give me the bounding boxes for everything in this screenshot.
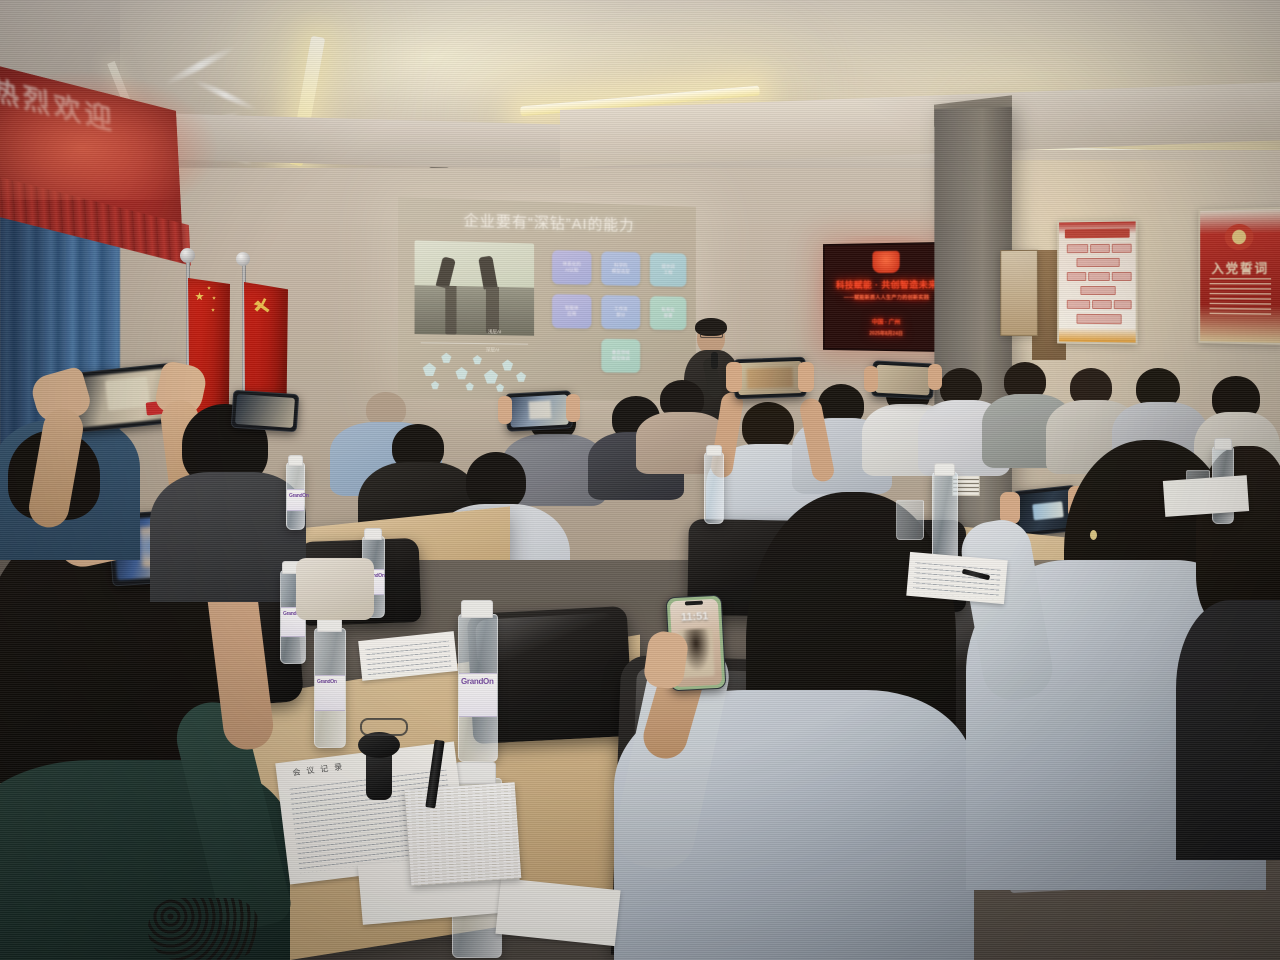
bottle-cap xyxy=(364,528,382,540)
hand xyxy=(498,396,512,424)
bottle-cap xyxy=(934,463,955,476)
phone-screen-content xyxy=(1032,501,1064,520)
phone-center-upper[interactable] xyxy=(505,390,573,431)
hammer-sickle-icon xyxy=(1225,224,1254,250)
water-bottle[interactable] xyxy=(704,452,724,524)
phone-screen-content xyxy=(747,367,794,389)
notepad-lines xyxy=(912,562,1001,600)
slide-card-7: 垂直领域 模型微调 xyxy=(601,339,640,373)
bottle-cap xyxy=(1214,438,1232,450)
slide-card-5: 工作流 部分 xyxy=(601,295,640,329)
bottle-cap xyxy=(461,600,493,618)
hand xyxy=(566,394,580,422)
paper-sheet[interactable] xyxy=(1163,475,1249,517)
led-display-sign: 科技赋能 · 共创智造未来 ——赋能新质人人生产力的创新实践 中国 · 广州 2… xyxy=(823,242,952,352)
led-line-1: 科技赋能 · 共创智造未来 xyxy=(825,278,950,292)
hand xyxy=(798,362,814,392)
water-bottle[interactable] xyxy=(932,472,958,562)
water-bottle[interactable]: GrandOn xyxy=(458,614,498,762)
bottle-cap xyxy=(456,762,496,784)
hand xyxy=(928,364,942,390)
attendee-torso xyxy=(1176,600,1280,860)
slide-card-4: 智能体 应用 xyxy=(552,294,591,329)
slide-illustration xyxy=(415,240,535,335)
phone-raised-right[interactable] xyxy=(733,357,806,399)
conference-room-photo: 热烈欢迎 企业要有“深钻”AI的能力 浅层AI 深层AI xyxy=(0,0,1280,960)
lace-cuff xyxy=(148,898,260,960)
bottle-cap xyxy=(706,445,722,456)
slide-divider xyxy=(421,342,528,344)
party-oath-body xyxy=(1210,278,1272,318)
bottle-cap xyxy=(288,455,303,466)
notepad-lines xyxy=(365,640,452,677)
notepad-header: 会议记录 xyxy=(292,761,349,779)
led-line-3: 中国 · 广州 xyxy=(825,317,950,327)
microphone-icon xyxy=(711,352,718,369)
hand xyxy=(726,362,742,392)
flag-finial xyxy=(180,248,195,263)
phone-screen xyxy=(875,365,930,396)
notepad-sheet[interactable] xyxy=(906,552,1007,604)
phone-left-second[interactable] xyxy=(231,390,299,433)
phone-screen xyxy=(235,394,295,428)
water-bottle[interactable]: GrandOn xyxy=(314,628,346,748)
flag-finial xyxy=(236,252,250,266)
honor-plaque xyxy=(1000,250,1038,336)
projection-screen: 企业要有“深钻”AI的能力 浅层AI 深层AI 体系化的 AI认知 科学的 模型… xyxy=(398,197,696,401)
slide-title: 企业要有“深钻”AI的能力 xyxy=(398,207,696,237)
party-oath-title: 入党誓词 xyxy=(1200,258,1280,277)
phone-back-right[interactable] xyxy=(871,360,935,399)
led-line-2: ——赋能新质人人生产力的创新实践 xyxy=(825,294,950,301)
handout-stack[interactable] xyxy=(405,782,521,885)
slide-card-6: 私有化 部署 xyxy=(650,296,687,330)
drinking-glass[interactable] xyxy=(896,500,924,540)
party-oath-poster: 入党誓词 xyxy=(1198,207,1280,345)
banner-light-glow xyxy=(0,70,220,200)
slide-card-3: 提示词 工程 xyxy=(650,253,687,287)
phone-screen-content xyxy=(528,400,551,419)
org-chart-poster xyxy=(1057,219,1138,344)
slide-card-1: 体系化的 AI认知 xyxy=(552,250,591,285)
phone-screen-content xyxy=(105,376,150,410)
party-emblem-icon xyxy=(872,251,899,273)
water-bottle[interactable]: GrandOn xyxy=(286,462,305,530)
slide-caption-shallow: 浅层AI xyxy=(488,329,501,335)
attendee-head xyxy=(366,392,406,426)
slide-gems xyxy=(417,348,534,396)
led-line-4: 2025年8月24日 xyxy=(825,329,950,338)
slide-card-2: 科学的 模型选型 xyxy=(601,251,640,286)
handbag[interactable] xyxy=(296,558,374,620)
hand xyxy=(864,366,878,392)
eyeglasses-icon[interactable] xyxy=(360,718,408,736)
earring xyxy=(1090,530,1097,540)
speaker-glasses-icon xyxy=(700,332,723,338)
